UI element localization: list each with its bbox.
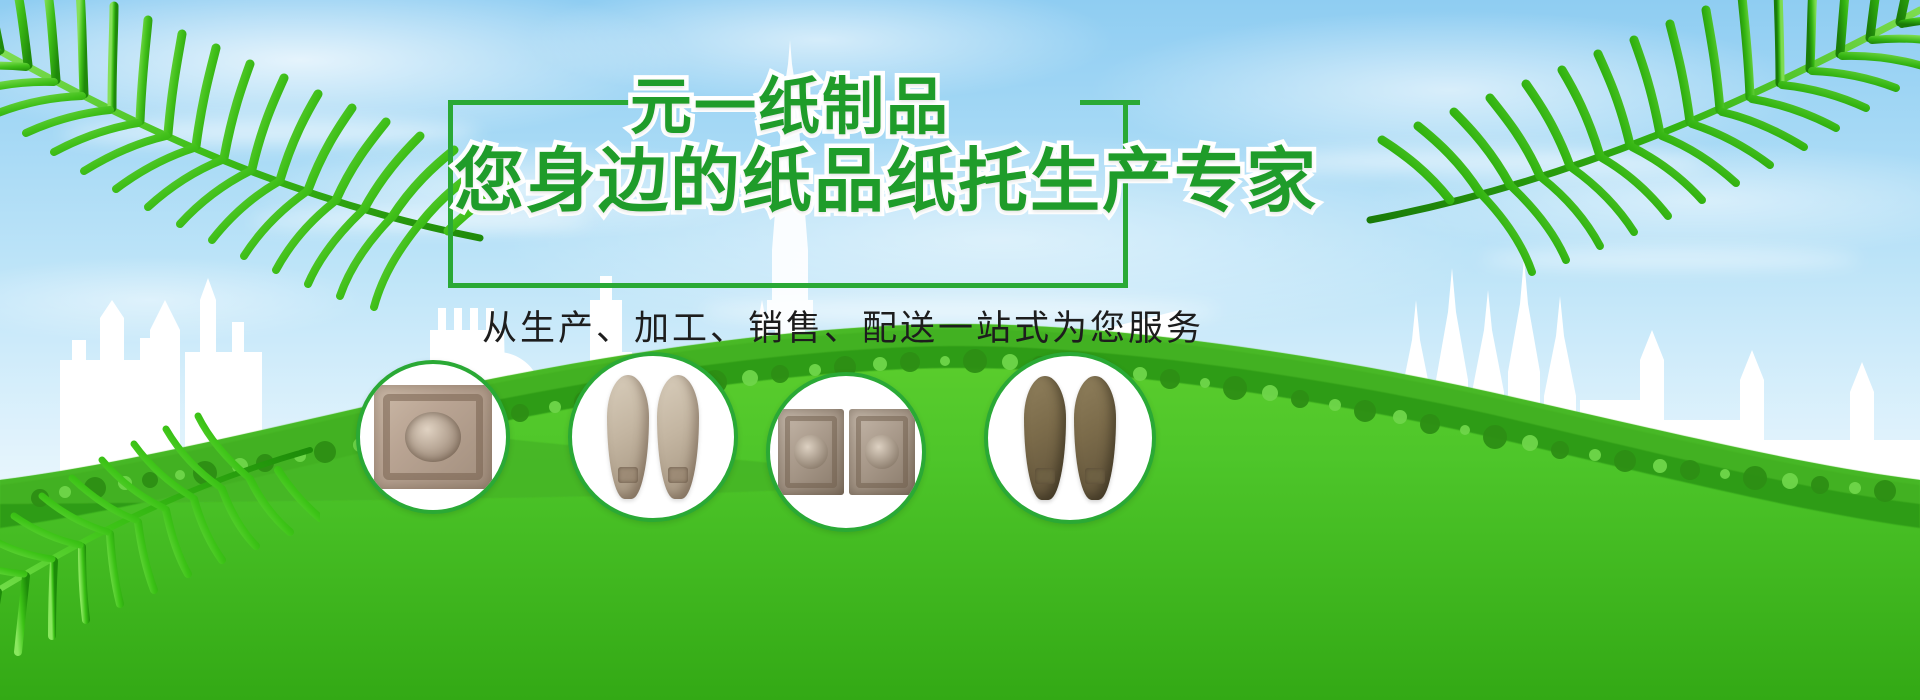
product-circle-4[interactable] — [984, 352, 1156, 524]
palm-frond-icon — [0, 300, 320, 660]
subtitle: 从生产、加工、销售、配送一站式为您服务 — [482, 300, 1204, 351]
product-circle-1[interactable] — [356, 360, 510, 514]
molded-pulp-twin-tray — [778, 409, 915, 495]
molded-pulp-shoe-insert — [1024, 376, 1116, 500]
frame-rule-right — [1080, 100, 1140, 105]
product-circle-3[interactable] — [766, 372, 926, 532]
molded-pulp-shoe-tree — [607, 375, 699, 499]
product-circle-2[interactable] — [568, 352, 738, 522]
palm-frond-icon — [1350, 0, 1920, 380]
page-title: 您身边的纸品纸托生产专家 — [454, 140, 1318, 222]
molded-pulp-square-tray — [374, 385, 492, 489]
brand-name: 元一纸制品 — [630, 72, 950, 142]
promotional-banner: 元一纸制品 您身边的纸品纸托生产专家 从生产、加工、销售、配送一站式为您服务 — [0, 0, 1920, 700]
headline-block: 元一纸制品 您身边的纸品纸托生产专家 — [440, 78, 1140, 298]
